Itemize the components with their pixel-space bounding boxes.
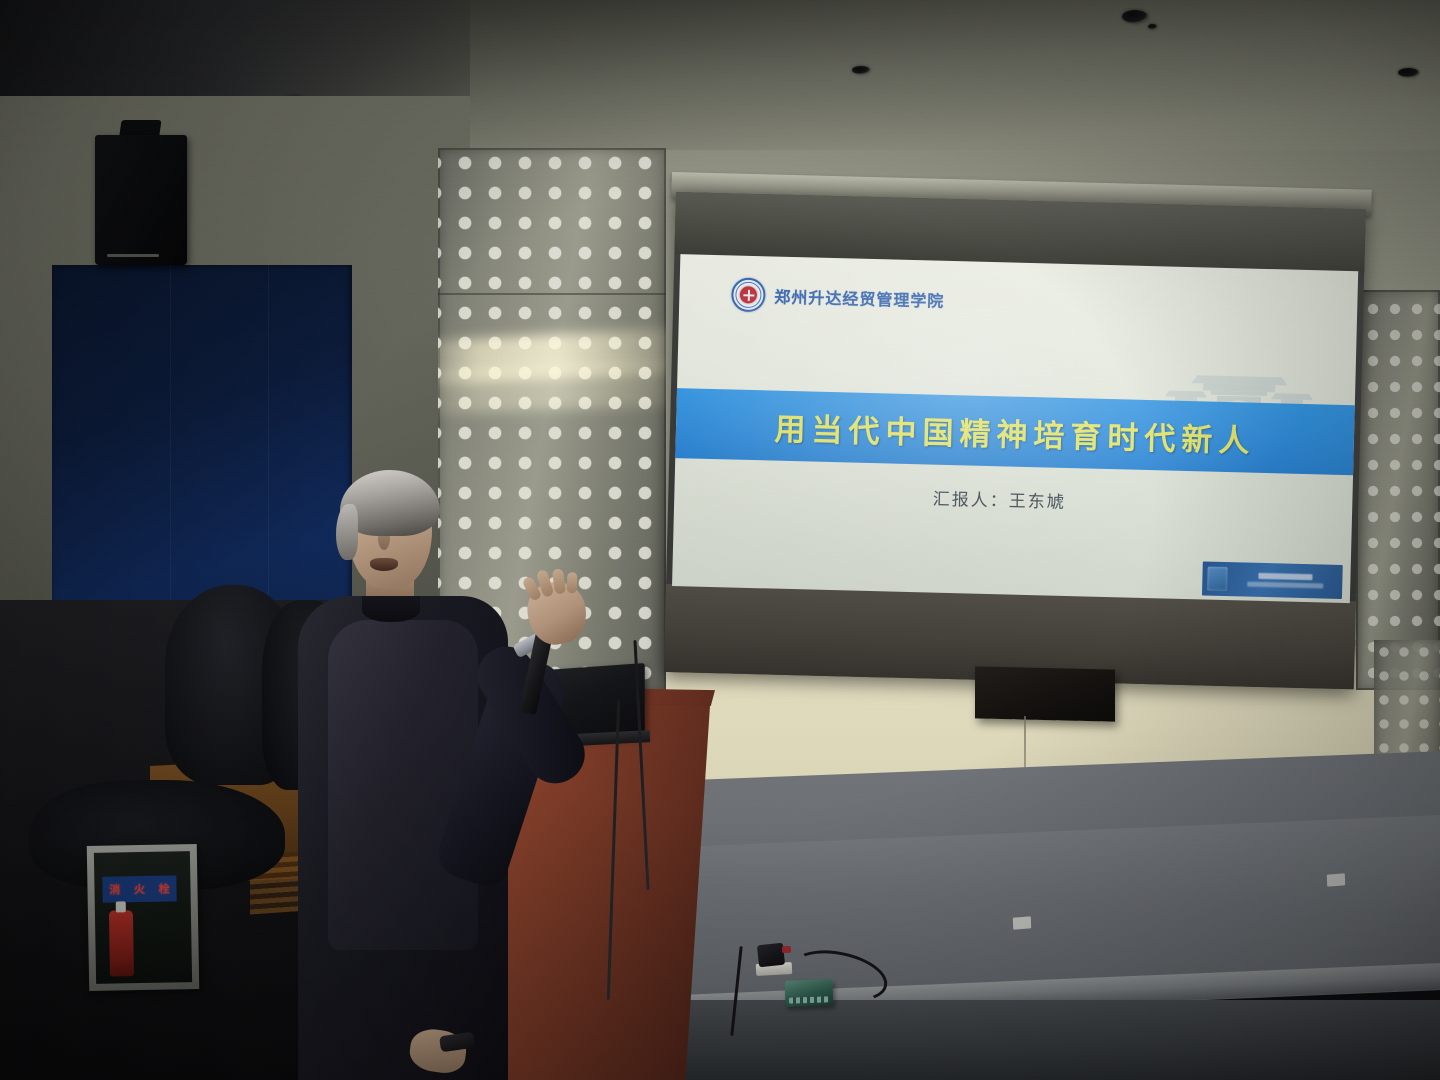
downlight-icon-2 bbox=[1148, 24, 1157, 29]
presenter-line-wrap: 汇报人：王东虓 bbox=[674, 478, 1352, 520]
floor-outlet-1 bbox=[1013, 916, 1031, 929]
lecture-hall-photo: 郑州升达经贸管理学院 用当代中国精神 bbox=[0, 0, 1440, 1080]
fire-extinguisher-cabinet: 消 火 栓 bbox=[87, 844, 200, 991]
fire-sign-char-3: 栓 bbox=[159, 883, 170, 894]
black-plug-block bbox=[757, 943, 785, 968]
badge-line-1 bbox=[1258, 573, 1312, 580]
university-logo: 郑州升达经贸管理学院 bbox=[731, 277, 945, 316]
presenter-sweater-vest bbox=[328, 620, 478, 950]
presentation-slide: 郑州升达经贸管理学院 用当代中国精神 bbox=[672, 254, 1358, 603]
red-indicator-icon bbox=[782, 946, 791, 953]
wall-mounted-av-box bbox=[975, 666, 1115, 721]
fire-hydrant-sign: 消 火 栓 bbox=[102, 875, 176, 902]
university-name: 郑州升达经贸管理学院 bbox=[774, 284, 945, 312]
downlight-icon-1 bbox=[1122, 10, 1148, 23]
presenter-person bbox=[270, 470, 600, 1080]
fire-sign-char-2: 火 bbox=[134, 883, 145, 894]
presenter-hair-side bbox=[336, 504, 358, 560]
projection-screen: 郑州升达经贸管理学院 用当代中国精神 bbox=[664, 192, 1366, 689]
cabinet-glass-door[interactable]: 消 火 栓 bbox=[94, 851, 192, 984]
fire-extinguisher-icon bbox=[109, 910, 134, 976]
fire-sign-char-1: 消 bbox=[109, 884, 120, 895]
presenter-mouth bbox=[370, 558, 398, 571]
badge-emblem-icon bbox=[1207, 567, 1228, 591]
downlight-icon-3 bbox=[1398, 68, 1419, 77]
slide-title: 用当代中国精神培育时代新人 bbox=[774, 403, 1256, 460]
floor-outlet-2 bbox=[1327, 873, 1345, 886]
badge-line-2 bbox=[1247, 582, 1323, 589]
wall-speaker bbox=[95, 135, 187, 265]
downlight-icon-4 bbox=[852, 66, 870, 74]
presenter-collar bbox=[362, 596, 420, 622]
university-crest-icon bbox=[731, 277, 766, 312]
perforated-metal-column-right bbox=[1356, 290, 1440, 690]
presenter-line: 汇报人：王东虓 bbox=[933, 490, 1066, 513]
slide-badge-watermark bbox=[1202, 561, 1343, 599]
